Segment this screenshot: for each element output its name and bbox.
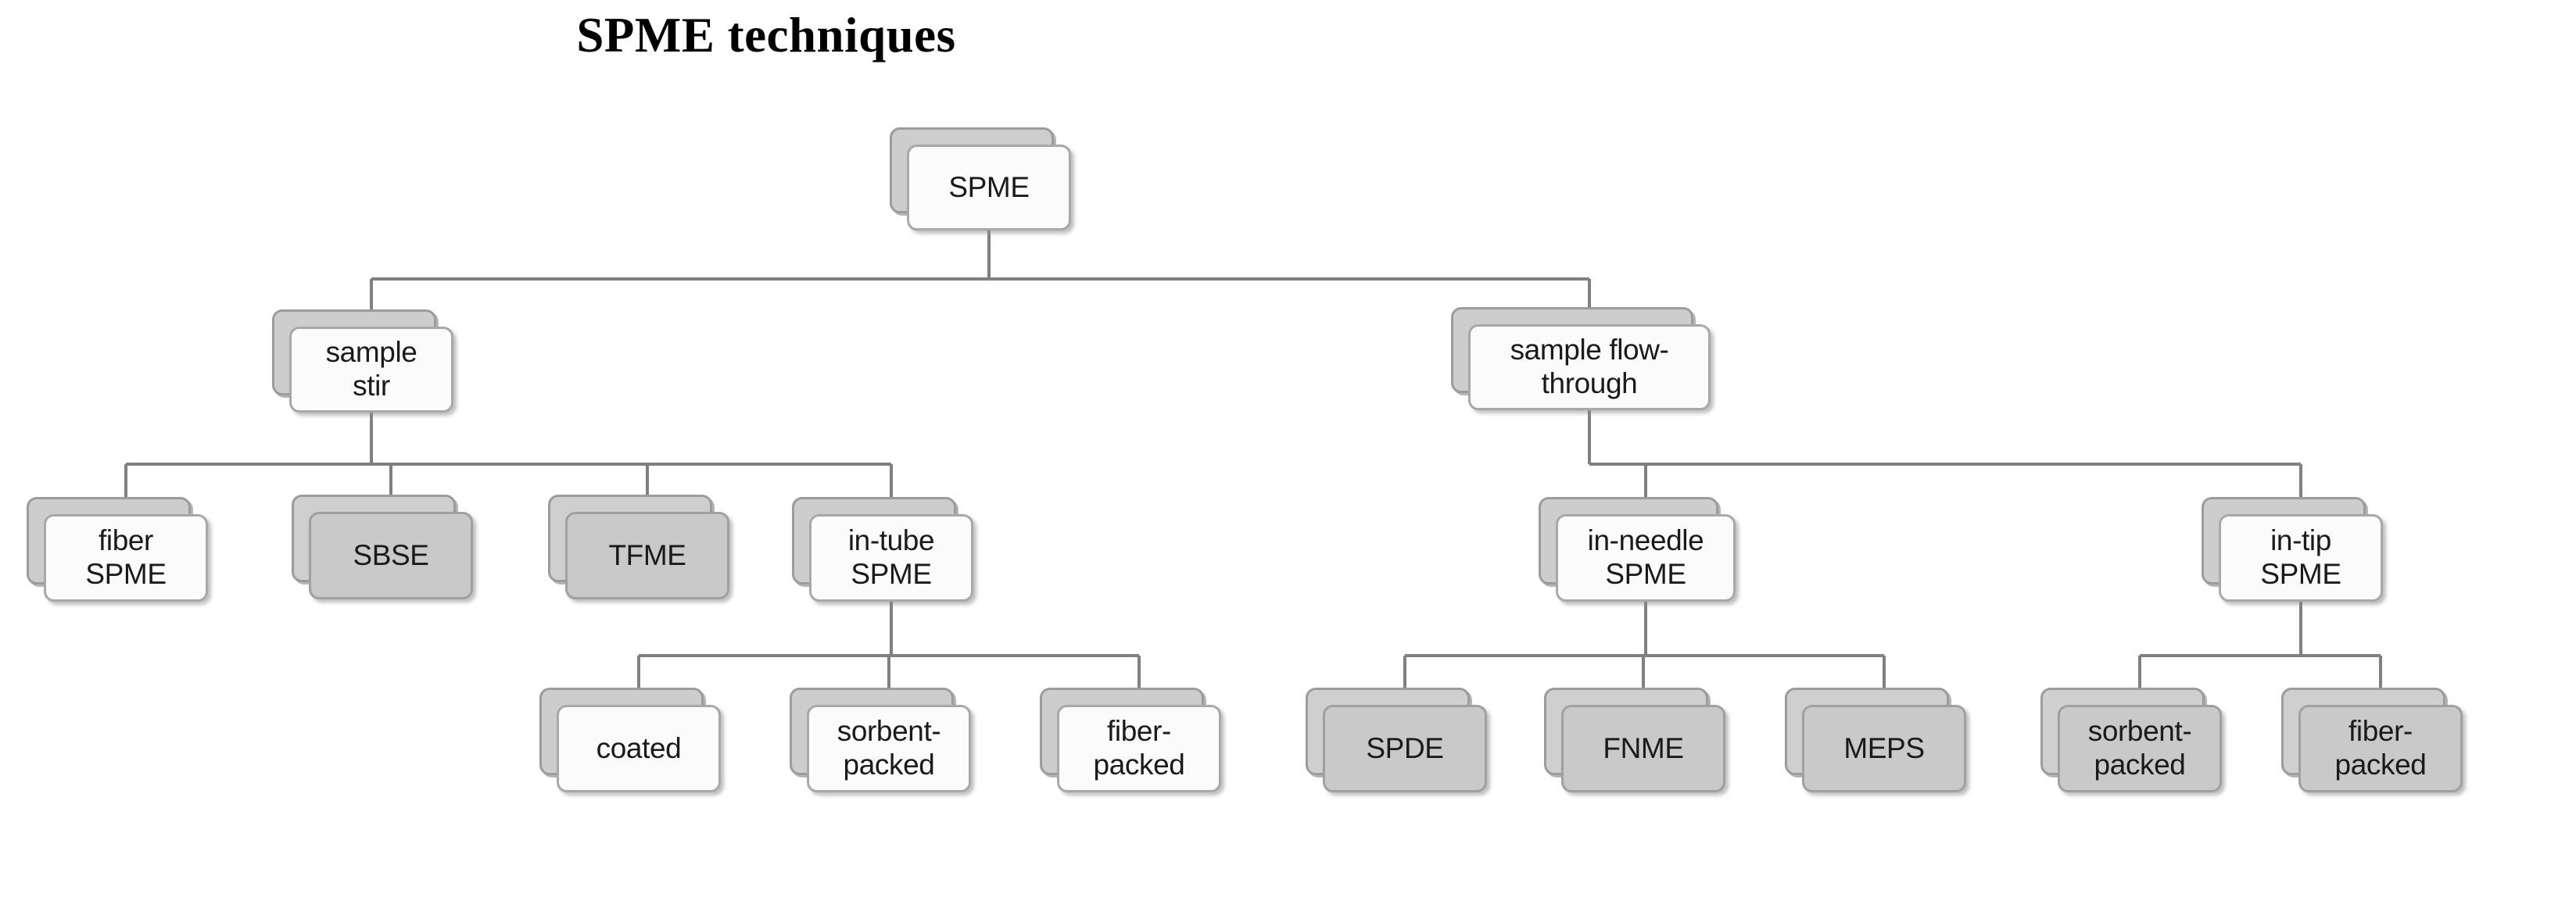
node-front-card[interactable]: in-tip SPME xyxy=(2219,514,2383,602)
node-fiber-packed-2[interactable]: fiber- packed xyxy=(2281,688,2463,792)
node-label: fiber- packed xyxy=(1089,715,1190,782)
node-front-card[interactable]: SPDE xyxy=(1323,705,1487,792)
node-spde[interactable]: SPDE xyxy=(1306,688,1487,792)
page-title: SPME techniques xyxy=(0,11,1532,60)
node-front-card[interactable]: sorbent- packed xyxy=(807,705,971,792)
node-label: sample stir xyxy=(321,336,422,403)
node-coated[interactable]: coated xyxy=(539,688,721,792)
node-label: SBSE xyxy=(348,539,433,573)
node-front-card[interactable]: FNME xyxy=(1561,705,1725,792)
node-spme[interactable]: SPME xyxy=(890,127,1071,231)
node-front-card[interactable]: sample stir xyxy=(289,327,453,413)
diagram-canvas: SPME techniques SPMEsample stirsample fl… xyxy=(0,0,2576,908)
node-meps[interactable]: MEPS xyxy=(1785,688,1966,792)
node-front-card[interactable]: MEPS xyxy=(1802,705,1966,792)
node-label: in-needle SPME xyxy=(1583,524,1709,592)
node-front-card[interactable]: fiber SPME xyxy=(44,514,208,602)
node-label: MEPS xyxy=(1839,732,1929,766)
node-label: fiber- packed xyxy=(2331,715,2431,782)
node-front-card[interactable]: fiber- packed xyxy=(2298,705,2463,792)
node-front-card[interactable]: fiber- packed xyxy=(1057,705,1221,792)
node-in-tip-spme[interactable]: in-tip SPME xyxy=(2202,497,2383,602)
node-front-card[interactable]: TFME xyxy=(565,512,729,599)
node-fiber-spme[interactable]: fiber SPME xyxy=(27,497,208,602)
node-in-tube-spme[interactable]: in-tube SPME xyxy=(792,497,973,602)
node-in-needle-spme[interactable]: in-needle SPME xyxy=(1539,497,1736,602)
node-front-card[interactable]: coated xyxy=(557,705,721,792)
node-label: in-tube SPME xyxy=(844,524,939,592)
node-label: coated xyxy=(592,732,686,766)
node-sample-flow[interactable]: sample flow- through xyxy=(1451,307,1711,410)
node-sorbent-packed-2[interactable]: sorbent- packed xyxy=(2040,688,2222,792)
node-front-card[interactable]: in-tube SPME xyxy=(809,514,973,602)
node-label: SPDE xyxy=(1361,732,1448,766)
node-front-card[interactable]: sample flow- through xyxy=(1468,324,1711,410)
node-label: fiber SPME xyxy=(81,524,170,592)
node-label: sorbent- packed xyxy=(833,715,946,782)
node-label: sorbent- packed xyxy=(2083,715,2197,782)
node-front-card[interactable]: SBSE xyxy=(309,512,473,599)
node-front-card[interactable]: sorbent- packed xyxy=(2058,705,2222,792)
node-label: TFME xyxy=(604,539,690,573)
node-label: SPME xyxy=(944,171,1034,205)
node-sorbent-packed-1[interactable]: sorbent- packed xyxy=(790,688,971,792)
node-fnme[interactable]: FNME xyxy=(1544,688,1725,792)
node-front-card[interactable]: in-needle SPME xyxy=(1556,514,1736,602)
node-label: FNME xyxy=(1598,732,1688,766)
node-tfme[interactable]: TFME xyxy=(548,495,729,599)
node-label: sample flow- through xyxy=(1506,334,1674,401)
node-front-card[interactable]: SPME xyxy=(907,145,1071,231)
node-sbse[interactable]: SBSE xyxy=(292,495,473,599)
node-fiber-packed-1[interactable]: fiber- packed xyxy=(1040,688,1221,792)
node-label: in-tip SPME xyxy=(2255,524,2345,592)
node-sample-stir[interactable]: sample stir xyxy=(272,309,453,413)
